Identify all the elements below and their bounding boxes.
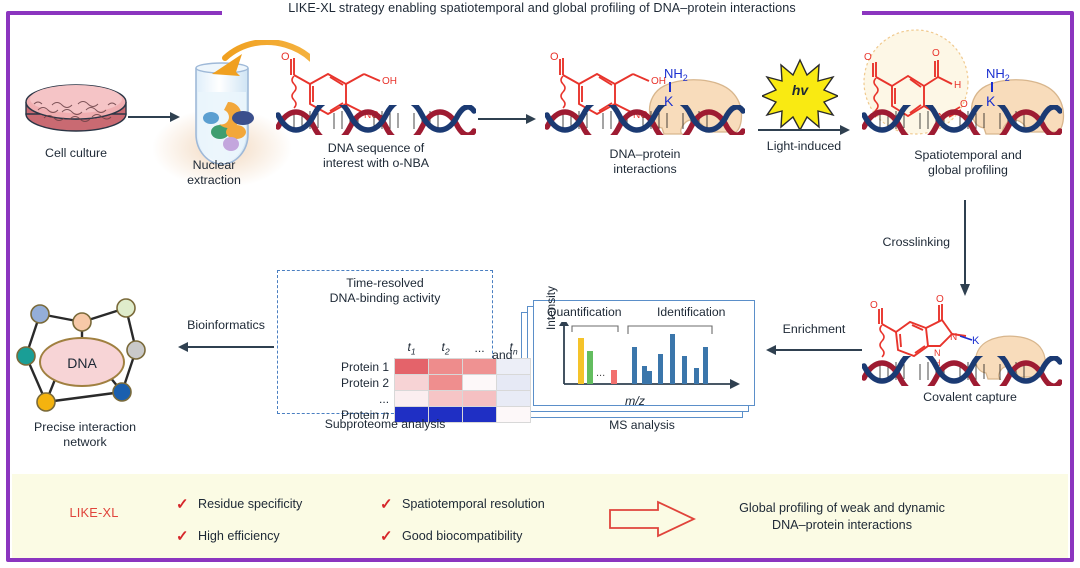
heatmap-title-line1: Time-resolved (346, 276, 423, 290)
label-spatiotemporal-line2: global profiling (880, 163, 1056, 178)
arrow-light-induced (758, 123, 850, 137)
feature-high-efficiency: High efficiency (198, 529, 280, 543)
label-dna-onba-line1: DNA sequence of (288, 141, 464, 156)
network-node (17, 347, 35, 365)
ms-header-quantification: Quantification (547, 305, 622, 319)
check-icon-2: ✓ (380, 495, 393, 513)
heatmap-cell (429, 375, 463, 391)
label-dna-onba-line2: interest with o-NBA (288, 156, 464, 171)
heatmap-cell (497, 407, 531, 423)
label-enrichment: Enrichment (766, 322, 862, 337)
svg-text:O: O (550, 51, 559, 63)
conclusion-line2: DNA–protein interactions (772, 518, 912, 532)
ms-bar (703, 347, 708, 384)
ms-x-axis-label: m/z (600, 394, 670, 408)
network-node (127, 341, 145, 359)
conclusion-text: Global profiling of weak and dynamic DNA… (672, 500, 1012, 534)
svg-text:...: ... (596, 367, 605, 379)
heatmap-row-label: ... (340, 391, 395, 407)
label-crosslinking: Crosslinking (880, 235, 950, 250)
heatmap-cell (395, 391, 429, 407)
svg-text:OH: OH (382, 76, 397, 87)
feature-residue-specificity: Residue specificity (198, 497, 302, 511)
svg-text:NH2: NH2 (664, 66, 688, 83)
ms-bar (670, 334, 675, 384)
arrow-to-dna-protein (478, 112, 536, 126)
dna-helix-1-icon (276, 105, 476, 135)
heatmap-row-label: Protein 2 (340, 375, 395, 391)
check-icon-1: ✓ (176, 495, 189, 513)
label-cell-culture: Cell culture (6, 146, 146, 161)
network-node (31, 305, 49, 323)
heatmap-cell (463, 375, 497, 391)
heatmap-title: Time-resolved DNA-binding activity (277, 276, 493, 306)
heatmap-title-line2: DNA-binding activity (330, 291, 441, 305)
svg-text:DNA: DNA (67, 355, 97, 371)
arrow-enrichment (766, 343, 862, 357)
network-node (73, 313, 91, 331)
ms-bar (658, 354, 663, 384)
ms-bar (682, 356, 687, 384)
svg-text:O: O (870, 300, 878, 311)
check-icon-3: ✓ (176, 527, 189, 545)
feature-good-biocompatibility: Good biocompatibility (402, 529, 522, 543)
label-dna-protein-line2: interactions (570, 162, 720, 177)
label-and: and (492, 348, 513, 362)
svg-text:O: O (936, 294, 944, 305)
conclusion-line1: Global profiling of weak and dynamic (739, 501, 945, 515)
dna-helix-3-icon (862, 105, 1062, 135)
check-icon-4: ✓ (380, 527, 393, 545)
label-precise-network-line2: network (0, 435, 170, 450)
network-node (113, 383, 131, 401)
table-row: Protein 2 (340, 375, 531, 391)
ms-spectrum-plot: ... (556, 322, 746, 394)
svg-text:H: H (954, 80, 961, 91)
feature-spatiotemporal-resolution: Spatiotemporal resolution (402, 497, 545, 511)
label-precise-network-line1: Precise interaction (0, 420, 170, 435)
svg-text:O: O (281, 51, 290, 63)
arrow-bioinformatics (178, 340, 274, 354)
brand-label: LIKE-XL (38, 505, 150, 520)
label-nuclear-extraction-line1: Nuclear (162, 158, 266, 173)
ms-bar (647, 371, 652, 384)
ms-bar (611, 370, 617, 384)
dna-helix-2-icon (545, 105, 745, 135)
heatmap-cell (395, 375, 429, 391)
label-dna-protein-line1: DNA–protein (570, 147, 720, 162)
heatmap-col-header: t1 (395, 340, 429, 359)
ms-bar (632, 347, 637, 384)
heatmap-col-header: t2 (429, 340, 463, 359)
ms-bar (642, 366, 647, 384)
label-covalent-capture: Covalent capture (890, 390, 1050, 405)
svg-text:N: N (950, 332, 957, 343)
heatmap-row-label: Protein 1 (340, 359, 395, 375)
cell-culture-dish-icon (22, 78, 130, 134)
label-light-induced: Light-induced (752, 139, 856, 154)
heatmap-cell (497, 391, 531, 407)
label-bioinformatics: Bioinformatics (172, 318, 280, 333)
interaction-network-icon: DNA (10, 288, 170, 418)
label-ms-analysis: MS analysis (534, 418, 750, 432)
arrow-crosslinking (958, 200, 972, 296)
svg-text:O: O (932, 48, 940, 59)
label-spatiotemporal-line1: Spatiotemporal and (880, 148, 1056, 163)
ms-bar (587, 351, 593, 384)
heatmap-cell (429, 359, 463, 375)
network-node (117, 299, 135, 317)
heatmap-cell (395, 359, 429, 375)
svg-text:NH2: NH2 (986, 66, 1010, 83)
table-row: ... (340, 391, 531, 407)
heatmap-cell (463, 391, 497, 407)
ms-bar (694, 368, 699, 384)
ms-bar (578, 338, 584, 384)
figure-title: LIKE-XL strategy enabling spatiotemporal… (222, 1, 862, 15)
svg-text:O: O (864, 52, 872, 63)
figure-canvas: LIKE-XL strategy enabling spatiotemporal… (0, 0, 1080, 568)
dna-helix-4-icon (862, 356, 1062, 386)
heatmap-cell (429, 391, 463, 407)
label-nuclear-extraction-line2: extraction (162, 173, 266, 188)
network-node (37, 393, 55, 411)
ms-header-identification: Identification (657, 305, 725, 319)
photon-symbol: hv (762, 82, 838, 98)
label-subproteome-analysis: Subproteome analysis (277, 417, 493, 431)
heatmap-cell (497, 375, 531, 391)
